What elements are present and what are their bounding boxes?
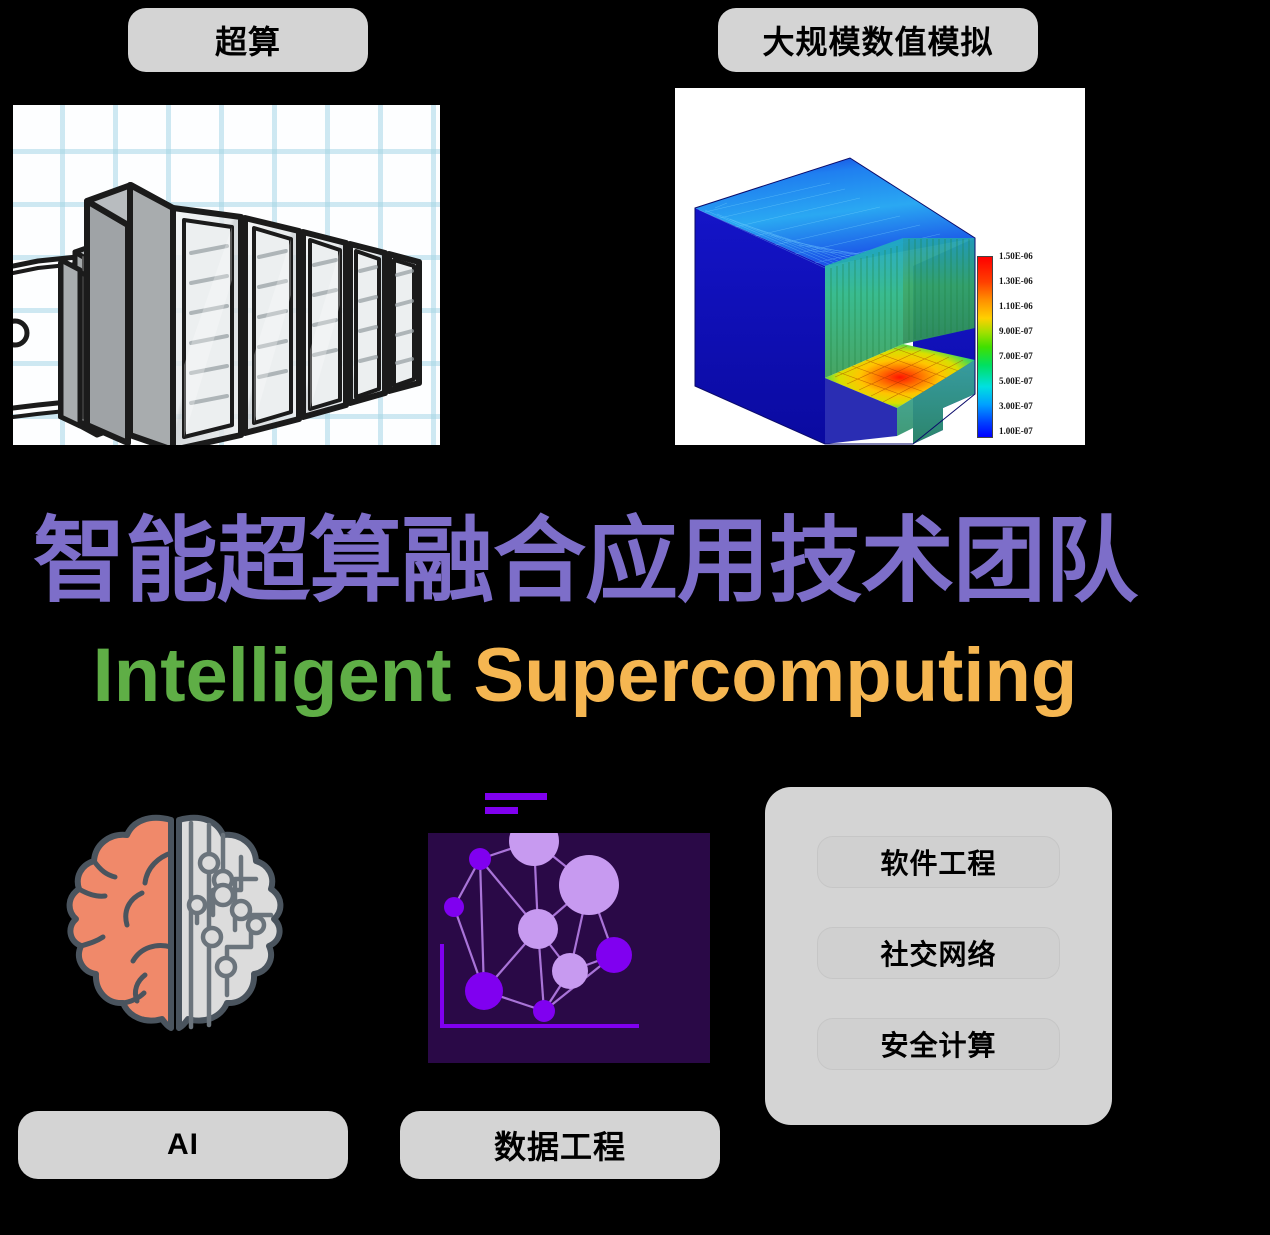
team-title-english-word2: Supercomputing — [474, 633, 1078, 718]
poster-canvas: 超算 — [0, 0, 1270, 1235]
colorbar-tick: 3.00E-07 — [999, 401, 1033, 411]
skill-chip-software-engineering[interactable]: 软件工程 — [817, 836, 1060, 888]
badge-large-scale-simulation[interactable]: 大规模数值模拟 — [718, 8, 1038, 72]
skill-chip-social-network[interactable]: 社交网络 — [817, 927, 1060, 979]
brain-svg — [45, 795, 310, 1065]
numerical-simulation-plot: 1.50E-06 1.30E-06 1.10E-06 9.00E-07 7.00… — [675, 88, 1085, 445]
header-bar-long — [485, 793, 547, 800]
header-bar-short — [485, 807, 518, 814]
supercomputer-illustration — [13, 105, 440, 445]
skill-chip-secure-computing[interactable]: 安全计算 — [817, 1018, 1060, 1070]
colorbar-tick: 1.30E-06 — [999, 276, 1033, 286]
server-racks-svg — [13, 105, 440, 445]
team-title-english: IntelligentSupercomputing — [0, 636, 1170, 716]
colorbar-tick: 7.00E-07 — [999, 351, 1033, 361]
team-title-chinese: 智能超算融合应用技术团队 — [0, 513, 1170, 611]
colorbar-tick: 5.00E-07 — [999, 376, 1033, 386]
team-title-english-word1: Intelligent — [93, 633, 452, 718]
colorbar-tick-labels: 1.50E-06 1.30E-06 1.10E-06 9.00E-07 7.00… — [999, 256, 1079, 436]
colorbar-gradient — [977, 256, 993, 438]
colorbar-tick: 1.50E-06 — [999, 251, 1033, 261]
colorbar-tick: 1.00E-07 — [999, 426, 1033, 436]
colorbar-tick: 1.10E-06 — [999, 301, 1033, 311]
brain-icon — [45, 795, 310, 1065]
skills-panel: 软件工程 社交网络 安全计算 — [765, 787, 1112, 1125]
badge-supercomputing[interactable]: 超算 — [128, 8, 368, 72]
network-graph-svg — [428, 833, 710, 1063]
colorbar-legend: 1.50E-06 1.30E-06 1.10E-06 9.00E-07 7.00… — [977, 256, 1079, 436]
colorbar-tick: 9.00E-07 — [999, 326, 1033, 336]
data-engineering-illustration — [420, 788, 710, 1068]
network-graph-panel — [428, 833, 710, 1063]
label-data-engineering[interactable]: 数据工程 — [400, 1111, 720, 1179]
label-ai[interactable]: AI — [18, 1111, 348, 1179]
